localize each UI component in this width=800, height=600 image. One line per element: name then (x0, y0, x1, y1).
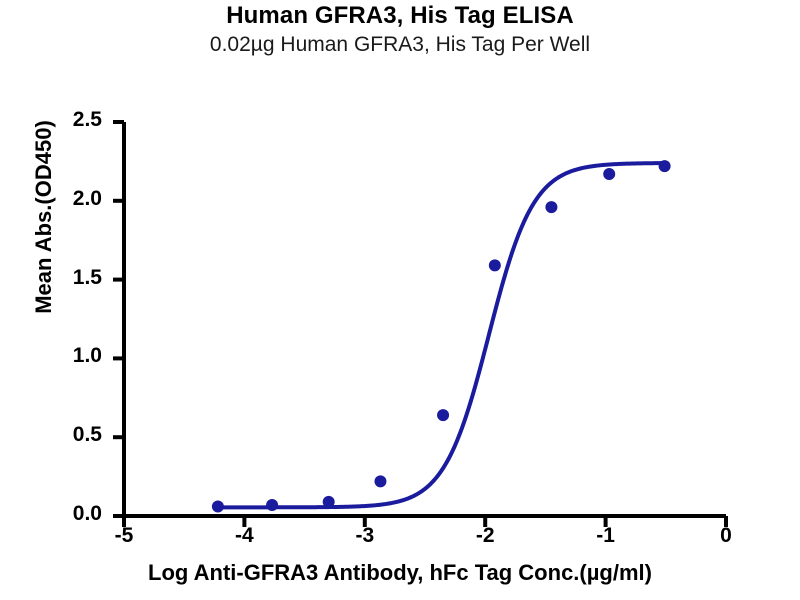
fit-curve (218, 163, 665, 507)
data-point (374, 475, 386, 487)
plot-area: Mean Abs.(OD450) Log Anti-GFRA3 Antibody… (0, 0, 800, 600)
data-point (603, 168, 615, 180)
data-markers (212, 160, 671, 512)
data-point (659, 160, 671, 172)
data-point (545, 201, 557, 213)
data-point (266, 499, 278, 511)
axis-ticks (113, 122, 726, 527)
data-point (437, 409, 449, 421)
plot-canvas (0, 0, 800, 600)
elisa-chart: Human GFRA3, His Tag ELISA 0.02µg Human … (0, 0, 800, 600)
data-point (489, 259, 501, 271)
axis-lines (124, 122, 726, 516)
data-point (212, 501, 224, 513)
data-point (323, 496, 335, 508)
